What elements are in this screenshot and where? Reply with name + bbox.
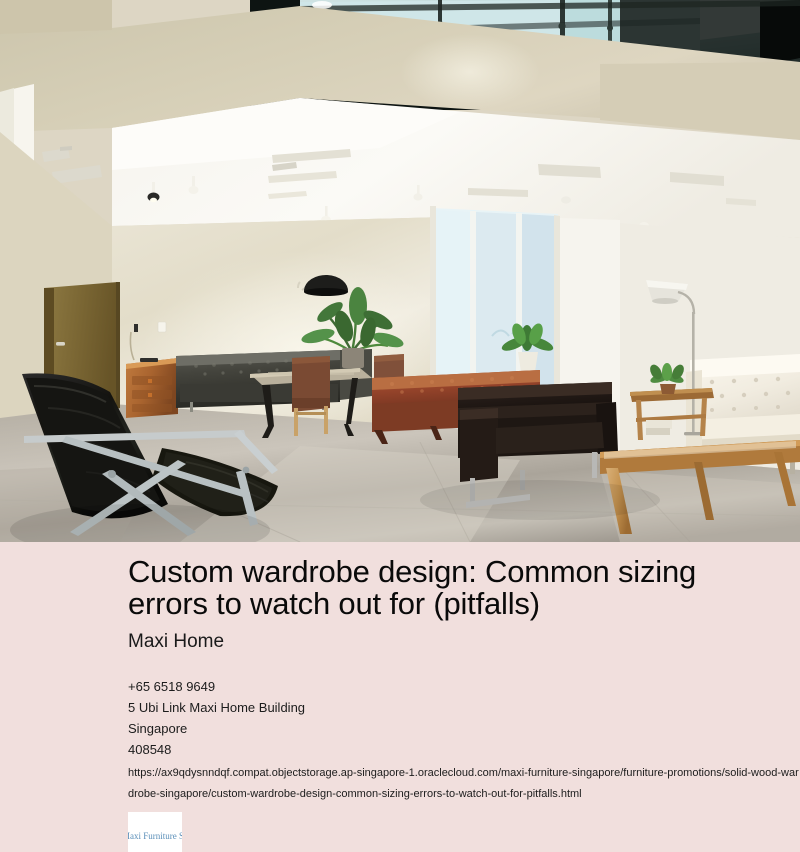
organization-name: Maxi Home (128, 630, 800, 654)
page-title: Custom wardrobe design: Common sizing er… (128, 556, 753, 620)
hero-image-container (0, 0, 800, 542)
contact-phone: +65 6518 9649 (128, 676, 800, 697)
contact-block: +65 6518 9649 5 Ubi Link Maxi Home Build… (128, 676, 800, 760)
related-link-card[interactable]: Maxi Furniture Singapore (128, 812, 182, 852)
contact-country: Singapore (128, 718, 800, 739)
source-url[interactable]: https://ax9qdysnndqf.compat.objectstorag… (128, 763, 800, 805)
contact-address: 5 Ubi Link Maxi Home Building (128, 697, 800, 718)
interior-photo (0, 0, 800, 542)
source-url-line-1: https://ax9qdysnndqf.compat.objectstorag… (128, 763, 800, 784)
source-url-line-2: drobe-singapore/custom-wardrobe-design-c… (128, 784, 800, 805)
contact-postal-code: 408548 (128, 739, 800, 760)
related-link-card-label: Maxi Furniture Singapore (128, 831, 182, 842)
article-content: Custom wardrobe design: Common sizing er… (0, 542, 800, 805)
